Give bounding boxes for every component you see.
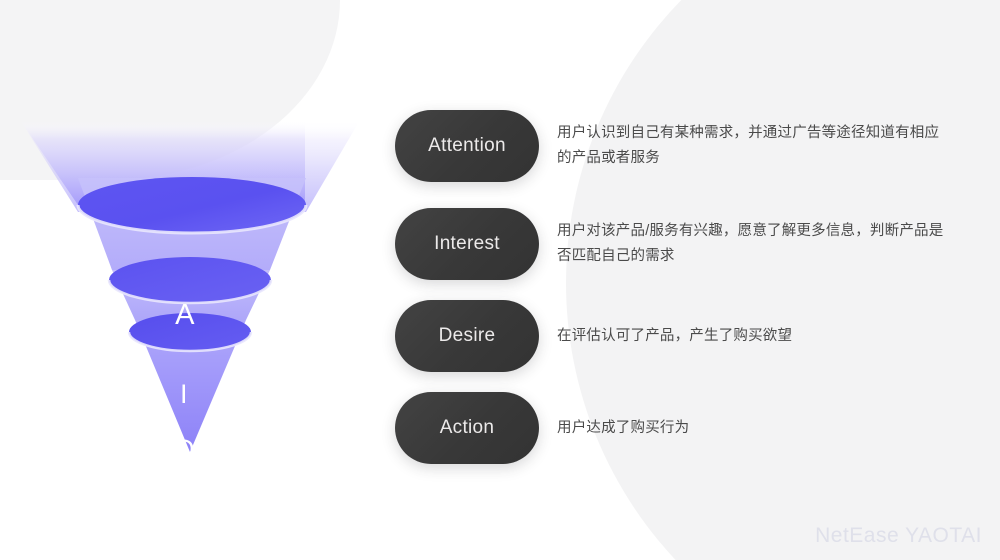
- funnel-letter-interest: I: [149, 381, 219, 408]
- stage-description-action: 用户达成了购买行为: [557, 416, 947, 441]
- stage-row-attention: Attention 用户认识到自己有某种需求，并通过广告等途径知道有相应的产品或…: [395, 110, 1000, 182]
- stage-pill-action[interactable]: Action: [395, 392, 539, 464]
- stage-row-desire: Desire 在评估认可了产品，产生了购买欲望: [395, 300, 1000, 372]
- watermark-label: NetEase YAOTAI: [815, 524, 982, 548]
- stage-description-desire: 在评估认可了产品，产生了购买欲望: [557, 324, 947, 349]
- stage-row-action: Action 用户达成了购买行为: [395, 392, 1000, 464]
- aida-stage-list: Attention 用户认识到自己有某种需求，并通过广告等途径知道有相应的产品或…: [395, 0, 1000, 560]
- funnel-letter-action: A: [152, 480, 222, 507]
- stage-pill-desire[interactable]: Desire: [395, 300, 539, 372]
- stage-description-interest: 用户对该产品/服务有兴趣，愿意了解更多信息，判断产品是否匹配自己的需求: [557, 219, 947, 269]
- slide-canvas: A I D A Attention 用户认识到自己有某种需求，并通过广告等途径知…: [0, 0, 1000, 560]
- funnel-letter-desire: D: [150, 436, 220, 463]
- stage-pill-attention[interactable]: Attention: [395, 110, 539, 182]
- funnel-letter-attention: A: [145, 301, 225, 330]
- aida-funnel-graphic: A I D A: [0, 120, 380, 470]
- stage-row-interest: Interest 用户对该产品/服务有兴趣，愿意了解更多信息，判断产品是否匹配自…: [395, 208, 1000, 280]
- stage-pill-interest[interactable]: Interest: [395, 208, 539, 280]
- stage-description-attention: 用户认识到自己有某种需求，并通过广告等途径知道有相应的产品或者服务: [557, 121, 947, 171]
